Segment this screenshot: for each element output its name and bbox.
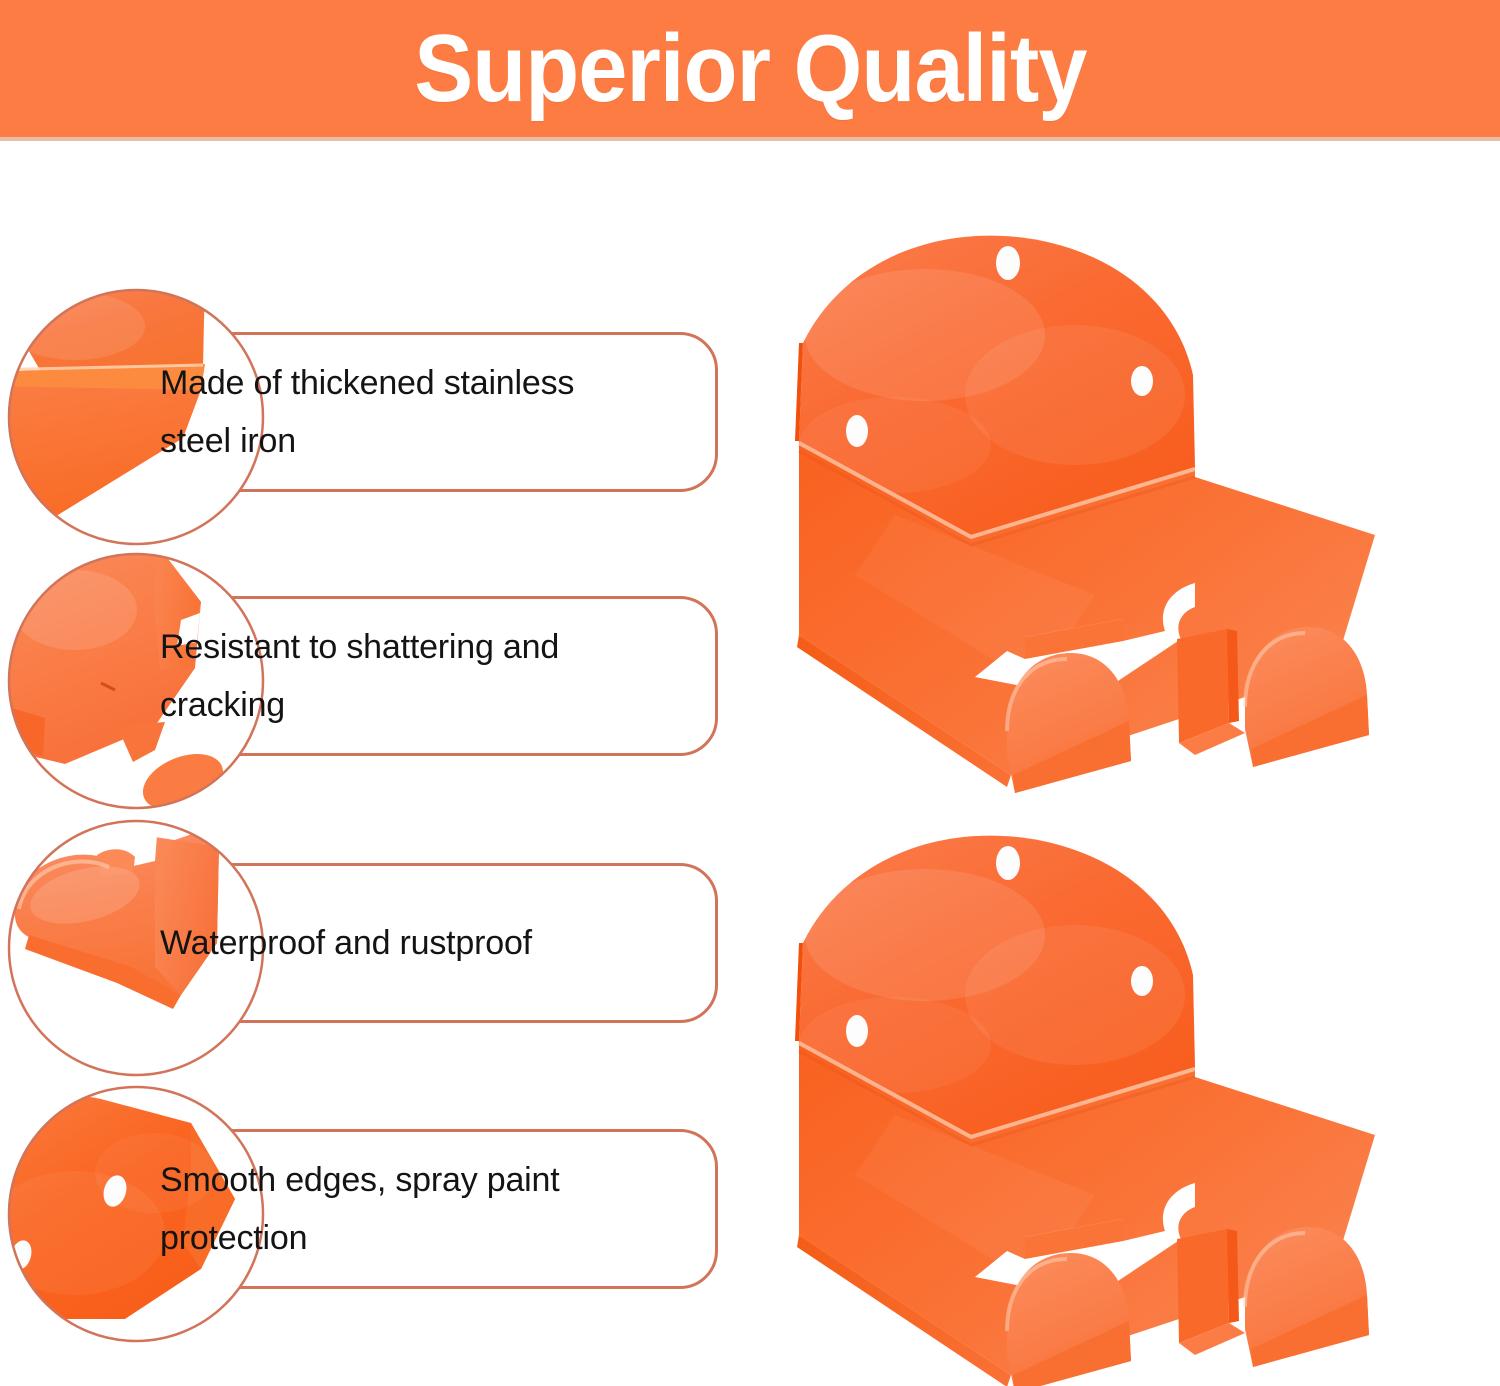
mounting-hole-top [996, 846, 1020, 880]
mounting-hole-left [846, 1015, 868, 1047]
feature-text-weatherproof: Waterproof and rustproof [160, 863, 600, 1023]
feature-text-durability: Resistant to shattering and cracking [160, 596, 600, 756]
feature-text-line-1: Smooth edges, spray paint [160, 1151, 600, 1209]
bracket-middle-fin [1177, 629, 1245, 755]
mounting-hole-right [1131, 366, 1153, 396]
product-photo-bracket-top [775, 215, 1475, 795]
feature-text-finish: Smooth edges, spray paint protection [160, 1129, 600, 1289]
feature-item-durability: Resistant to shattering and cracking [0, 549, 760, 817]
feature-item-finish: Smooth edges, spray paint protection [0, 1082, 760, 1350]
feature-text-line-2: cracking [160, 676, 600, 734]
feature-text-line-1: Waterproof and rustproof [160, 923, 600, 964]
header-banner: Superior Quality [0, 0, 1500, 137]
bracket-middle-fin [1177, 1229, 1245, 1355]
product-photo-bracket-bottom [775, 815, 1475, 1386]
feature-list: Made of thickened stainless steel iron [0, 137, 760, 1386]
mounting-hole-right [1131, 966, 1153, 996]
page-title: Superior Quality [414, 21, 1086, 117]
feature-text-line-2: protection [160, 1209, 600, 1267]
mounting-hole-top [996, 246, 1020, 280]
feature-item-material: Made of thickened stainless steel iron [0, 285, 760, 553]
product-infographic-page: Superior Quality [0, 0, 1500, 1386]
feature-text-line-1: Made of thickened stainless [160, 354, 600, 412]
feature-text-line-2: steel iron [160, 412, 600, 470]
feature-text-material: Made of thickened stainless steel iron [160, 332, 600, 492]
feature-text-line-1: Resistant to shattering and [160, 618, 600, 676]
feature-item-weatherproof: Waterproof and rustproof [0, 816, 760, 1084]
mounting-hole-left [846, 415, 868, 447]
